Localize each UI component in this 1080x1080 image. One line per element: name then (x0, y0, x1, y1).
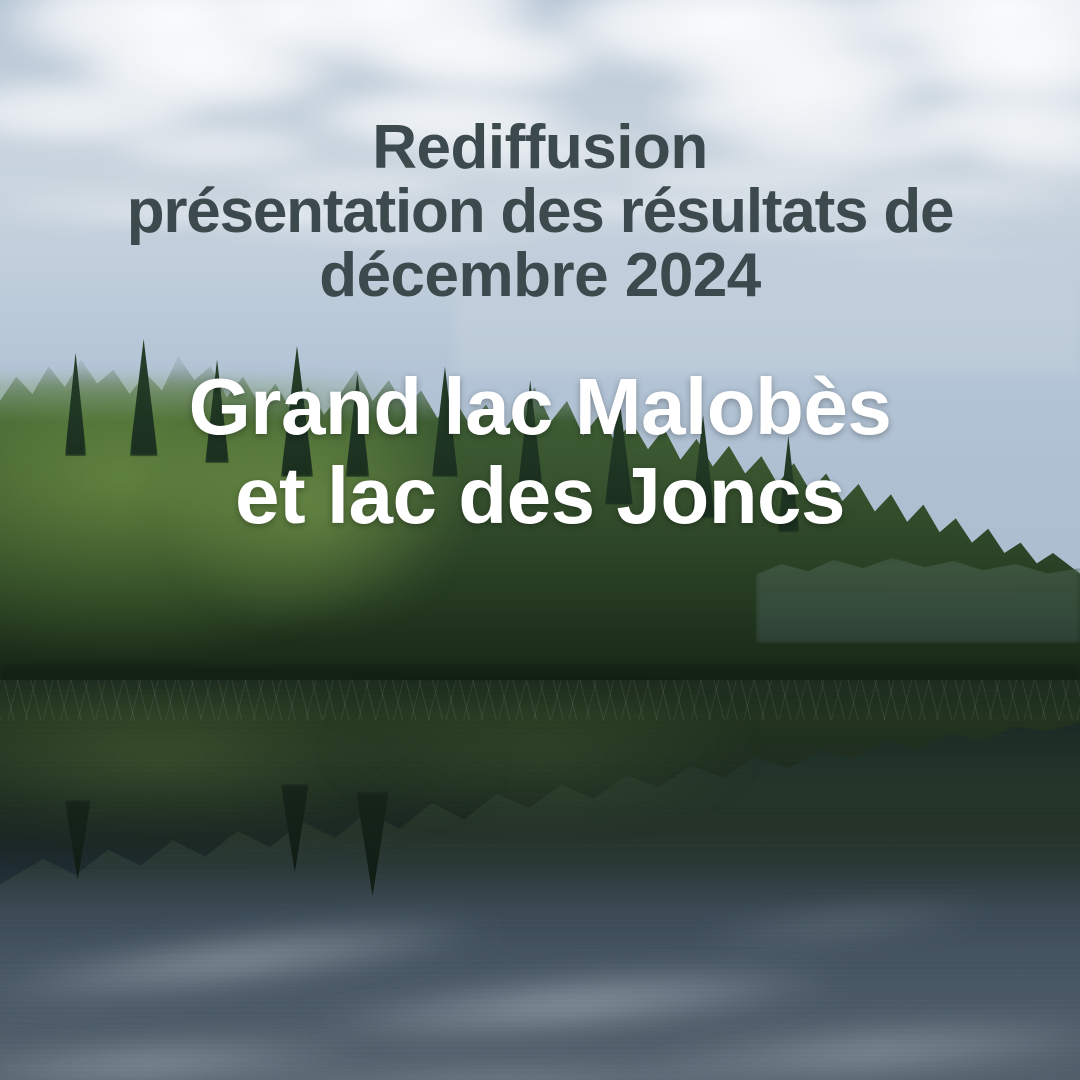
title-line-1: Grand lac Malobès (6, 362, 1074, 452)
title-line-2: et lac des Joncs (6, 451, 1074, 541)
slide-heading: Rediffusion présentation des résultats d… (0, 116, 1080, 308)
heading-line-3: décembre 2024 (6, 244, 1074, 308)
text-overlay: Rediffusion présentation des résultats d… (0, 0, 1080, 1080)
title-slide: Rediffusion présentation des résultats d… (0, 0, 1080, 1080)
heading-line-1: Rediffusion (6, 116, 1074, 180)
slide-title: Grand lac Malobès et lac des Joncs (0, 362, 1080, 541)
heading-line-2: présentation des résultats de (6, 180, 1074, 244)
